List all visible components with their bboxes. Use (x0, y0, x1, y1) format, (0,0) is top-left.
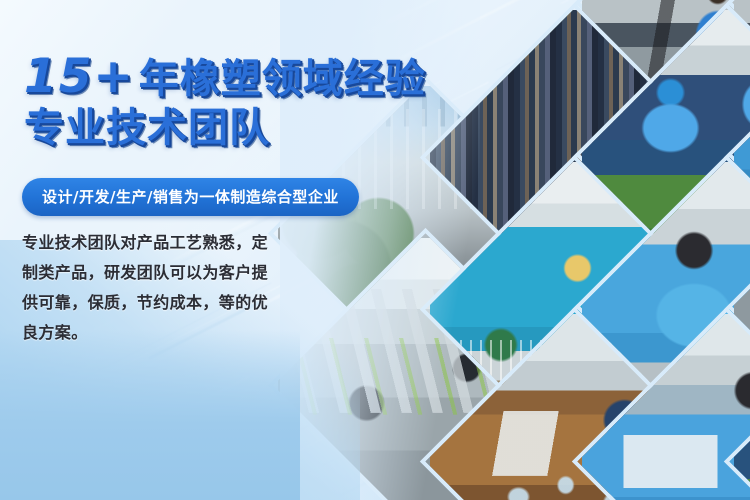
company-banner: 15+年橡塑领域经验 专业技术团队 设计/开发/生产/销售为一体制造综合型企业 … (0, 0, 750, 500)
headline-line-1-text: 年橡塑领域经验 (139, 56, 426, 102)
tagline-pill: 设计/开发/生产/销售为一体制造综合型企业 (22, 178, 359, 216)
headline-line-1: 15+年橡塑领域经验 (24, 52, 444, 104)
headline-line-2: 专业技术团队 (24, 104, 444, 153)
body-paragraph: 专业技术团队对产品工艺熟悉，定制类产品，研发团队可以为客户提供可靠，保质，节约成… (22, 228, 272, 348)
headline-years-number: 15+ (24, 49, 139, 104)
headline: 15+年橡塑领域经验 专业技术团队 (24, 52, 444, 153)
text-panel: 15+年橡塑领域经验 专业技术团队 设计/开发/生产/销售为一体制造综合型企业 … (0, 0, 430, 500)
